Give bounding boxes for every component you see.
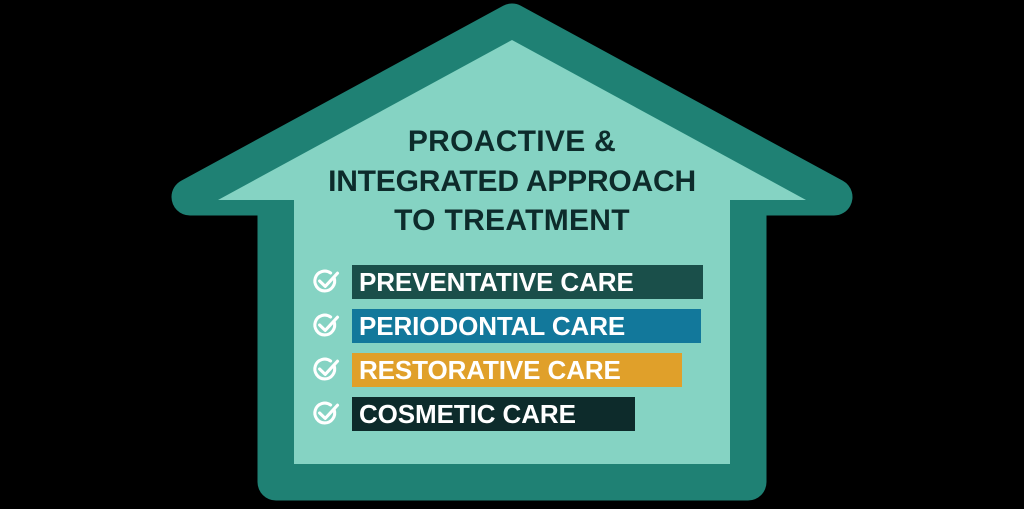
- house-content: PROACTIVE & INTEGRATED APPROACH TO TREAT…: [262, 96, 762, 496]
- list-item[interactable]: PERIODONTAL CARE: [310, 307, 762, 345]
- badge-periodontal-care: PERIODONTAL CARE: [352, 309, 701, 343]
- title-line-1: PROACTIVE &: [262, 122, 762, 162]
- check-circle-icon: [310, 310, 342, 342]
- list-item[interactable]: RESTORATIVE CARE: [310, 351, 762, 389]
- badge-preventative-care: PREVENTATIVE CARE: [352, 265, 703, 299]
- graphic-canvas: PROACTIVE & INTEGRATED APPROACH TO TREAT…: [0, 0, 1024, 509]
- list-item[interactable]: PREVENTATIVE CARE: [310, 263, 762, 301]
- badge-restorative-care: RESTORATIVE CARE: [352, 353, 682, 387]
- check-circle-icon: [310, 354, 342, 386]
- page-title: PROACTIVE & INTEGRATED APPROACH TO TREAT…: [262, 96, 762, 241]
- list-item[interactable]: COSMETIC CARE: [310, 395, 762, 433]
- check-circle-icon: [310, 398, 342, 430]
- title-line-3: TO TREATMENT: [262, 201, 762, 241]
- badge-cosmetic-care: COSMETIC CARE: [352, 397, 635, 431]
- title-line-2: INTEGRATED APPROACH: [262, 162, 762, 202]
- treatment-checklist: PREVENTATIVE CARE PERIODONTAL CARE RESTO…: [262, 263, 762, 433]
- check-circle-icon: [310, 266, 342, 298]
